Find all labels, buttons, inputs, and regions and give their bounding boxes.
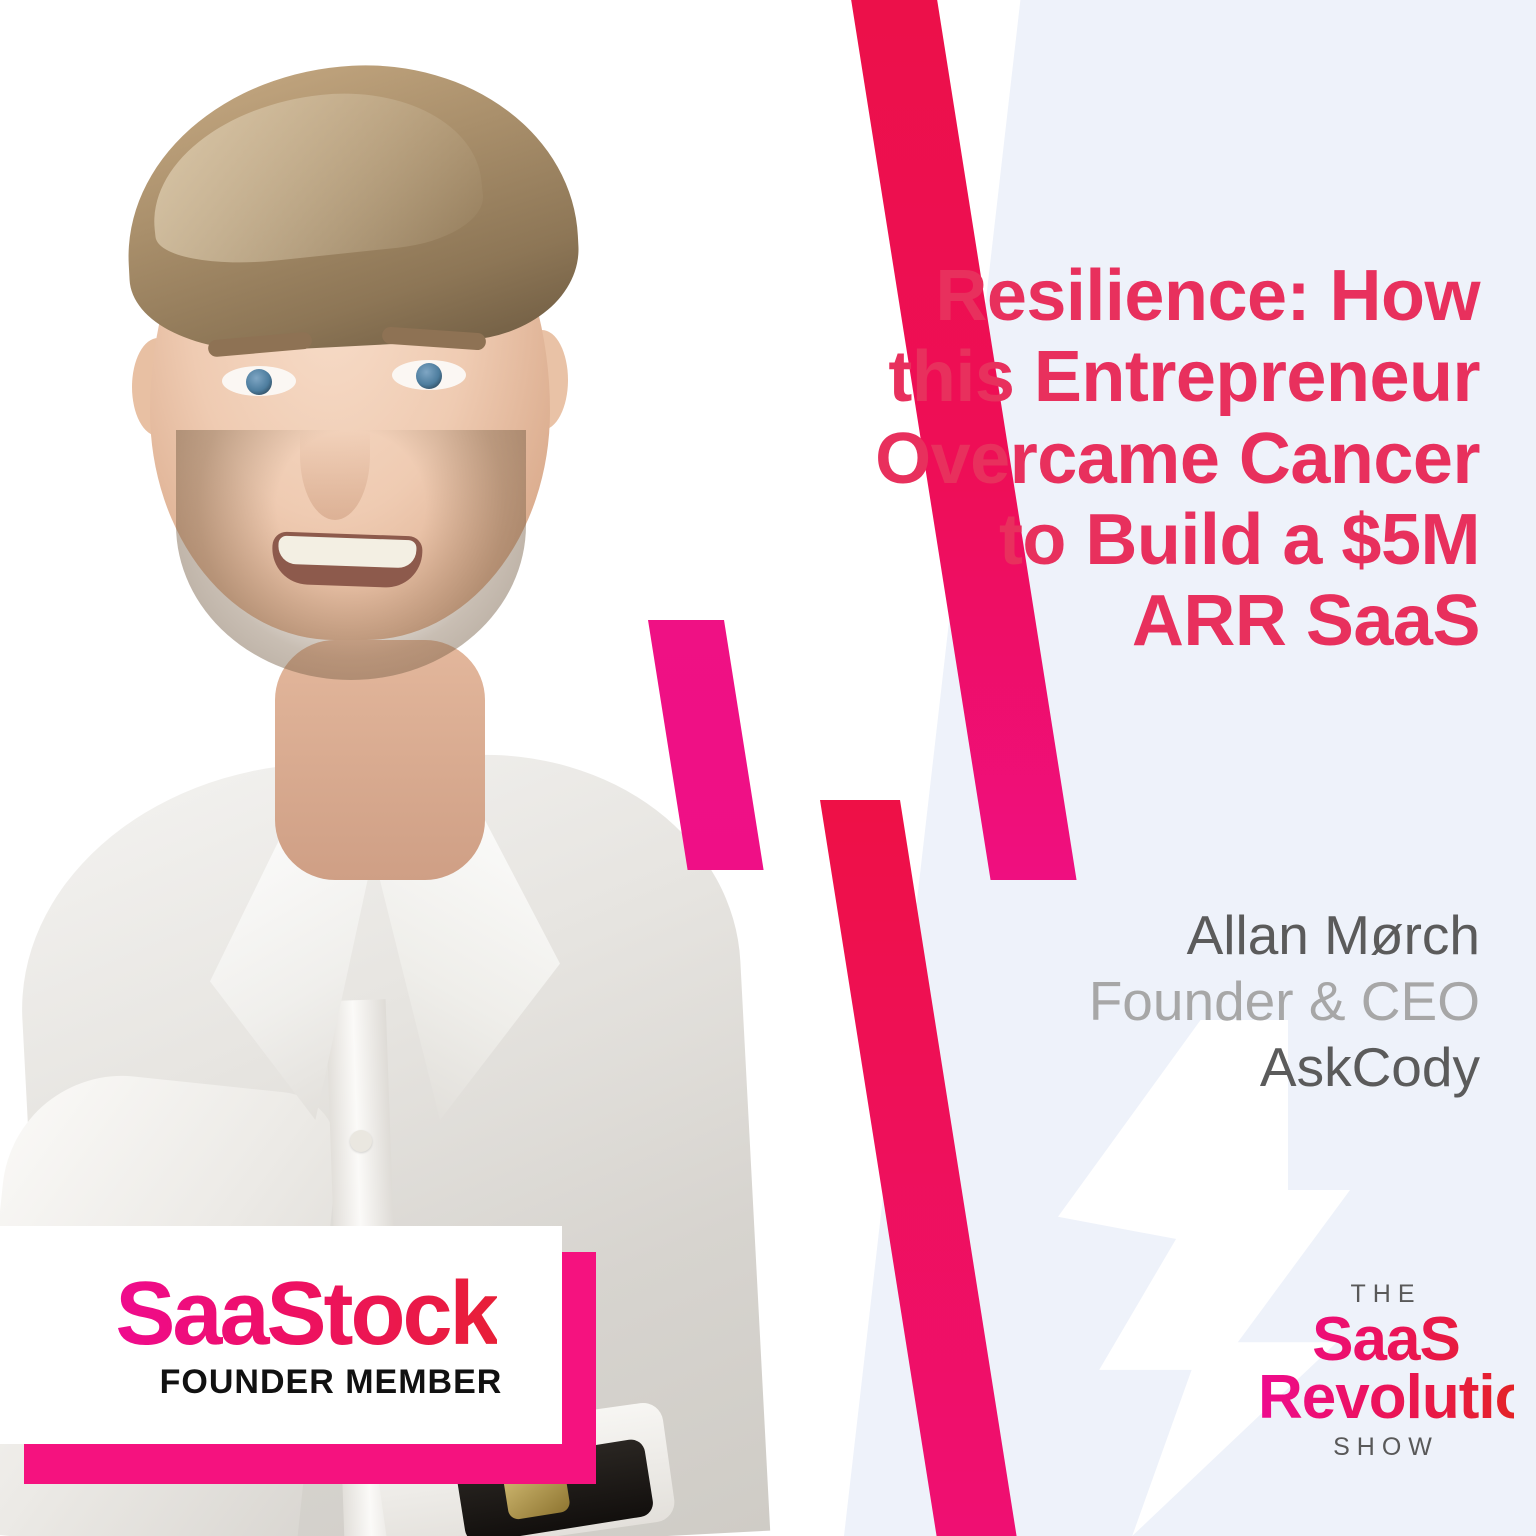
episode-title-line: to Build a $5M bbox=[860, 500, 1480, 581]
show-logo-revolution: Revolution bbox=[1258, 1367, 1514, 1429]
portrait-shirt-button bbox=[350, 1130, 372, 1152]
episode-title: Resilience: How this Entrepreneur Overca… bbox=[860, 256, 1480, 663]
speaker-details: Allan Mørch Founder & CEO AskCody bbox=[920, 902, 1480, 1100]
podcast-cover: Resilience: How this Entrepreneur Overca… bbox=[0, 0, 1536, 1536]
portrait-eye-left bbox=[222, 366, 296, 396]
saas-revolution-show-logo: THE SaaS Revolution SHOW bbox=[1258, 1282, 1514, 1460]
show-logo-saas: SaaS bbox=[1258, 1309, 1514, 1371]
portrait-eye-right bbox=[392, 360, 466, 390]
portrait-teeth bbox=[278, 536, 417, 569]
episode-title-line: Overcame Cancer bbox=[860, 419, 1480, 500]
badge-card: SaaStock FOUNDER MEMBER bbox=[0, 1226, 562, 1444]
portrait-iris-left bbox=[246, 369, 272, 395]
badge-subtitle: FOUNDER MEMBER bbox=[160, 1363, 503, 1402]
episode-title-line: ARR SaaS bbox=[860, 581, 1480, 662]
portrait-mouth bbox=[271, 531, 423, 588]
saastock-founder-badge: SaaStock FOUNDER MEMBER bbox=[0, 1226, 610, 1486]
show-logo-show: SHOW bbox=[1258, 1435, 1514, 1460]
speaker-company: AskCody bbox=[920, 1034, 1480, 1100]
portrait-nose bbox=[300, 390, 370, 520]
speaker-name: Allan Mørch bbox=[920, 902, 1480, 968]
episode-title-line: this Entrepreneur bbox=[860, 337, 1480, 418]
saastock-logo-text: SaaStock bbox=[115, 1269, 496, 1359]
portrait-iris-right bbox=[416, 363, 442, 389]
show-logo-the: THE bbox=[1258, 1282, 1514, 1307]
episode-title-line: Resilience: How bbox=[860, 256, 1480, 337]
speaker-role: Founder & CEO bbox=[920, 968, 1480, 1034]
